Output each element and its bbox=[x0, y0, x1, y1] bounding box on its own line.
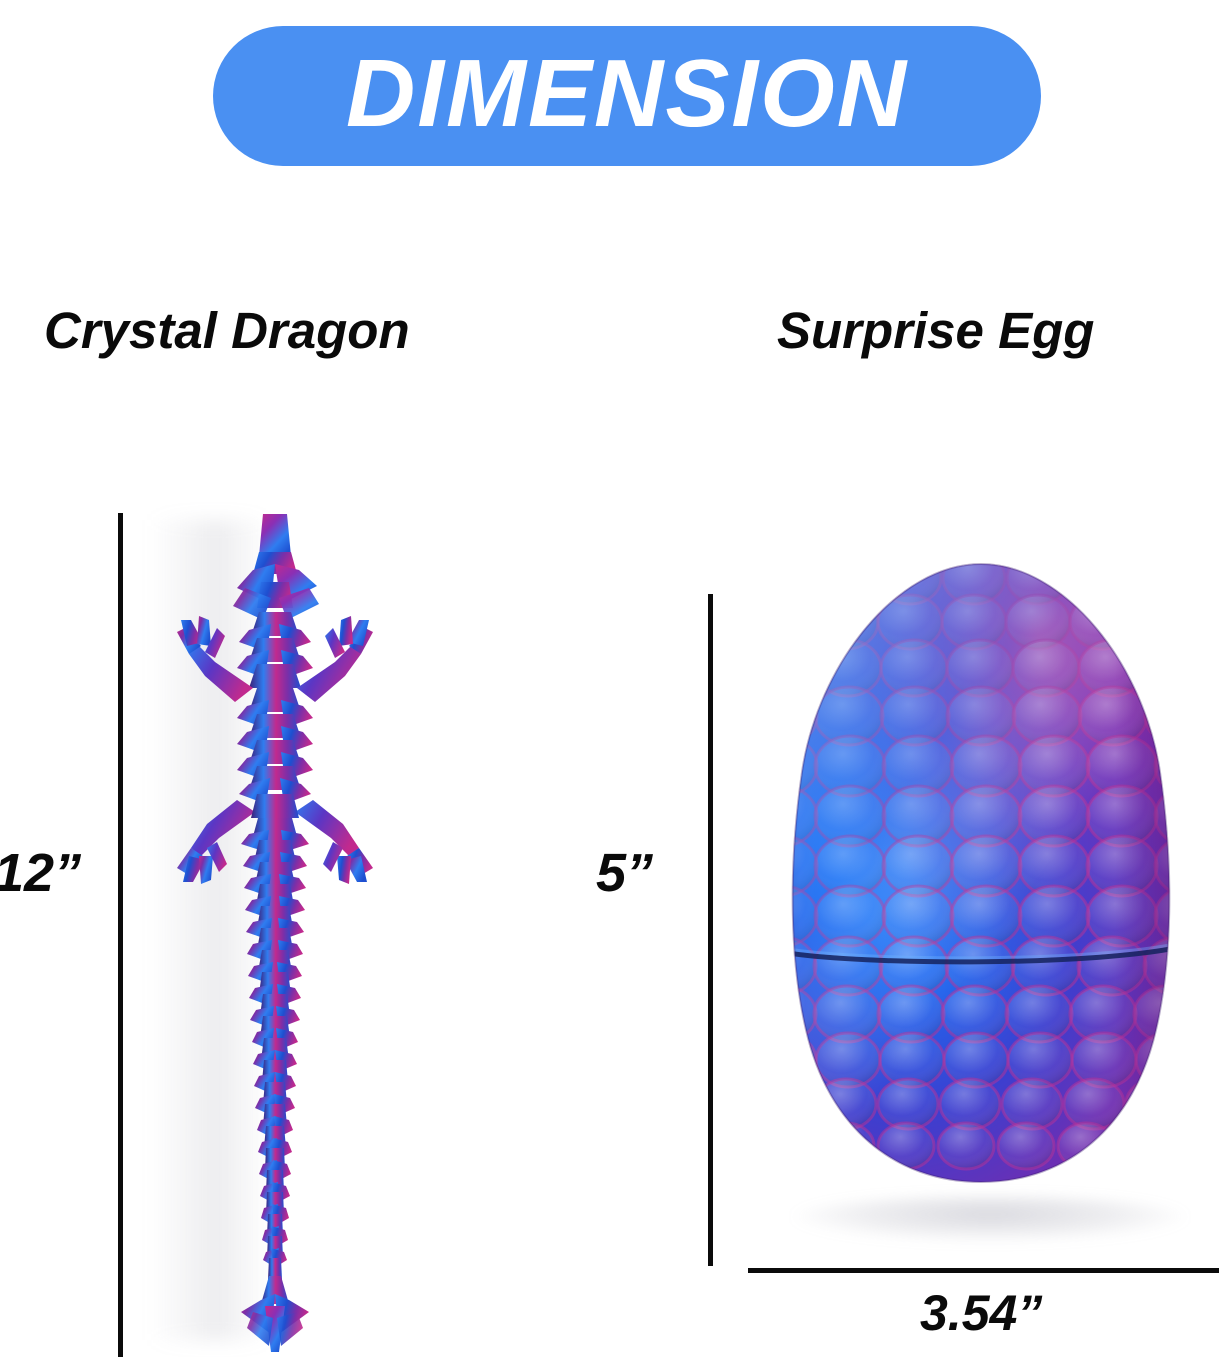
product-label-surprise-egg: Surprise Egg bbox=[777, 305, 1094, 356]
dragon-neck-segments bbox=[237, 612, 313, 688]
egg-width-measure-line bbox=[748, 1268, 1219, 1273]
dimension-infographic: DIMENSION Crystal Dragon Surprise Egg bbox=[0, 0, 1219, 1357]
surprise-egg-figure-icon bbox=[742, 560, 1219, 1220]
egg-body bbox=[742, 560, 1219, 1220]
dragon-height-measure-line bbox=[118, 513, 123, 1357]
egg-height-value: 5” bbox=[596, 846, 653, 900]
product-label-crystal-dragon: Crystal Dragon bbox=[44, 305, 410, 356]
dragon-height-value: 12” bbox=[0, 846, 81, 900]
egg-width-value: 3.54” bbox=[920, 1288, 1042, 1338]
header-pill: DIMENSION bbox=[213, 26, 1041, 166]
dragon-tail bbox=[241, 794, 309, 1280]
dragon-tail-fin bbox=[241, 1276, 309, 1352]
dragon-head bbox=[233, 514, 319, 620]
crystal-dragon-figure-icon bbox=[175, 512, 375, 1357]
egg-height-measure-line bbox=[708, 594, 713, 1266]
page-title: DIMENSION bbox=[346, 46, 908, 142]
dragon-torso-segments bbox=[237, 688, 313, 804]
